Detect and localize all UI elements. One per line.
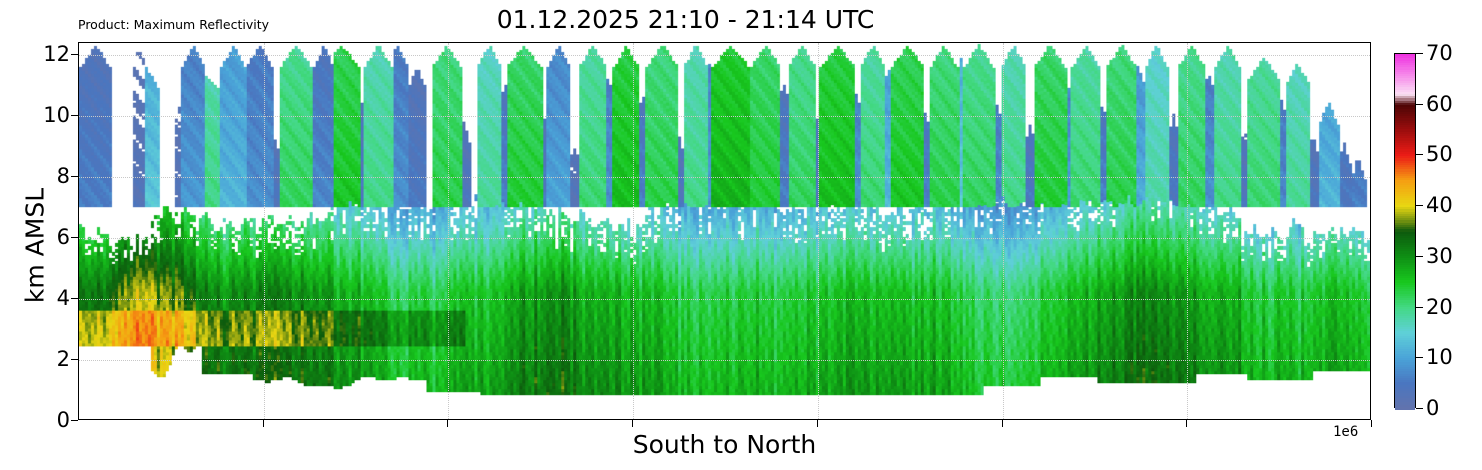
y-tick-label: 8 [57, 164, 70, 188]
x-tick-mark [1371, 420, 1372, 427]
colorbar-tick-mark [1416, 154, 1423, 155]
y-tick-label: 10 [43, 103, 70, 127]
colorbar-tick-label: 70 [1426, 41, 1453, 65]
reflectivity-heatmap [79, 43, 1370, 419]
x-axis-label: South to North [78, 430, 1371, 459]
colorbar-tick-label: 10 [1426, 345, 1453, 369]
y-tick-mark [71, 54, 78, 55]
y-tick-mark [71, 237, 78, 238]
y-tick-label: 0 [57, 408, 70, 432]
y-tick-label: 12 [43, 42, 70, 66]
y-tick-label: 2 [57, 347, 70, 371]
y-tick-label: 4 [57, 286, 70, 310]
colorbar-tick-mark [1416, 357, 1423, 358]
plot-area [78, 42, 1371, 420]
product-label: Product: Maximum Reflectivity [78, 17, 269, 32]
colorbar-tick-mark [1416, 408, 1423, 409]
x-tick-mark [1186, 420, 1187, 427]
colorbar-tick-mark [1416, 256, 1423, 257]
colorbar-tick-label: 0 [1426, 396, 1439, 420]
y-tick-mark [71, 176, 78, 177]
colorbar-tick-label: 40 [1426, 193, 1453, 217]
y-axis-label: km AMSL [21, 116, 50, 376]
x-tick-mark [817, 420, 818, 427]
colorbar-tick-label: 30 [1426, 244, 1453, 268]
colorbar-tick-label: 50 [1426, 142, 1453, 166]
colorbar-tick-mark [1416, 53, 1423, 54]
colorbar-tick-mark [1416, 205, 1423, 206]
x-axis-offset-text: 1e6 [1333, 424, 1358, 440]
colorbar-tick-label: 20 [1426, 295, 1453, 319]
y-tick-label: 6 [57, 225, 70, 249]
colorbar-tick-mark [1416, 104, 1423, 105]
x-tick-mark [447, 420, 448, 427]
y-tick-mark [71, 298, 78, 299]
x-tick-mark [263, 420, 264, 427]
y-tick-mark [71, 420, 78, 421]
x-tick-mark [632, 420, 633, 427]
colorbar: 010203040506070 [1394, 53, 1416, 408]
radar-cross-section-figure: 01.12.2025 21:10 - 21:14 UTC Product: Ma… [0, 0, 1482, 470]
x-tick-mark [1002, 420, 1003, 427]
colorbar-segment [1395, 407, 1415, 410]
y-tick-mark [71, 115, 78, 116]
colorbar-gradient [1394, 53, 1416, 408]
y-tick-mark [71, 359, 78, 360]
colorbar-tick-label: 60 [1426, 92, 1453, 116]
colorbar-tick-mark [1416, 307, 1423, 308]
